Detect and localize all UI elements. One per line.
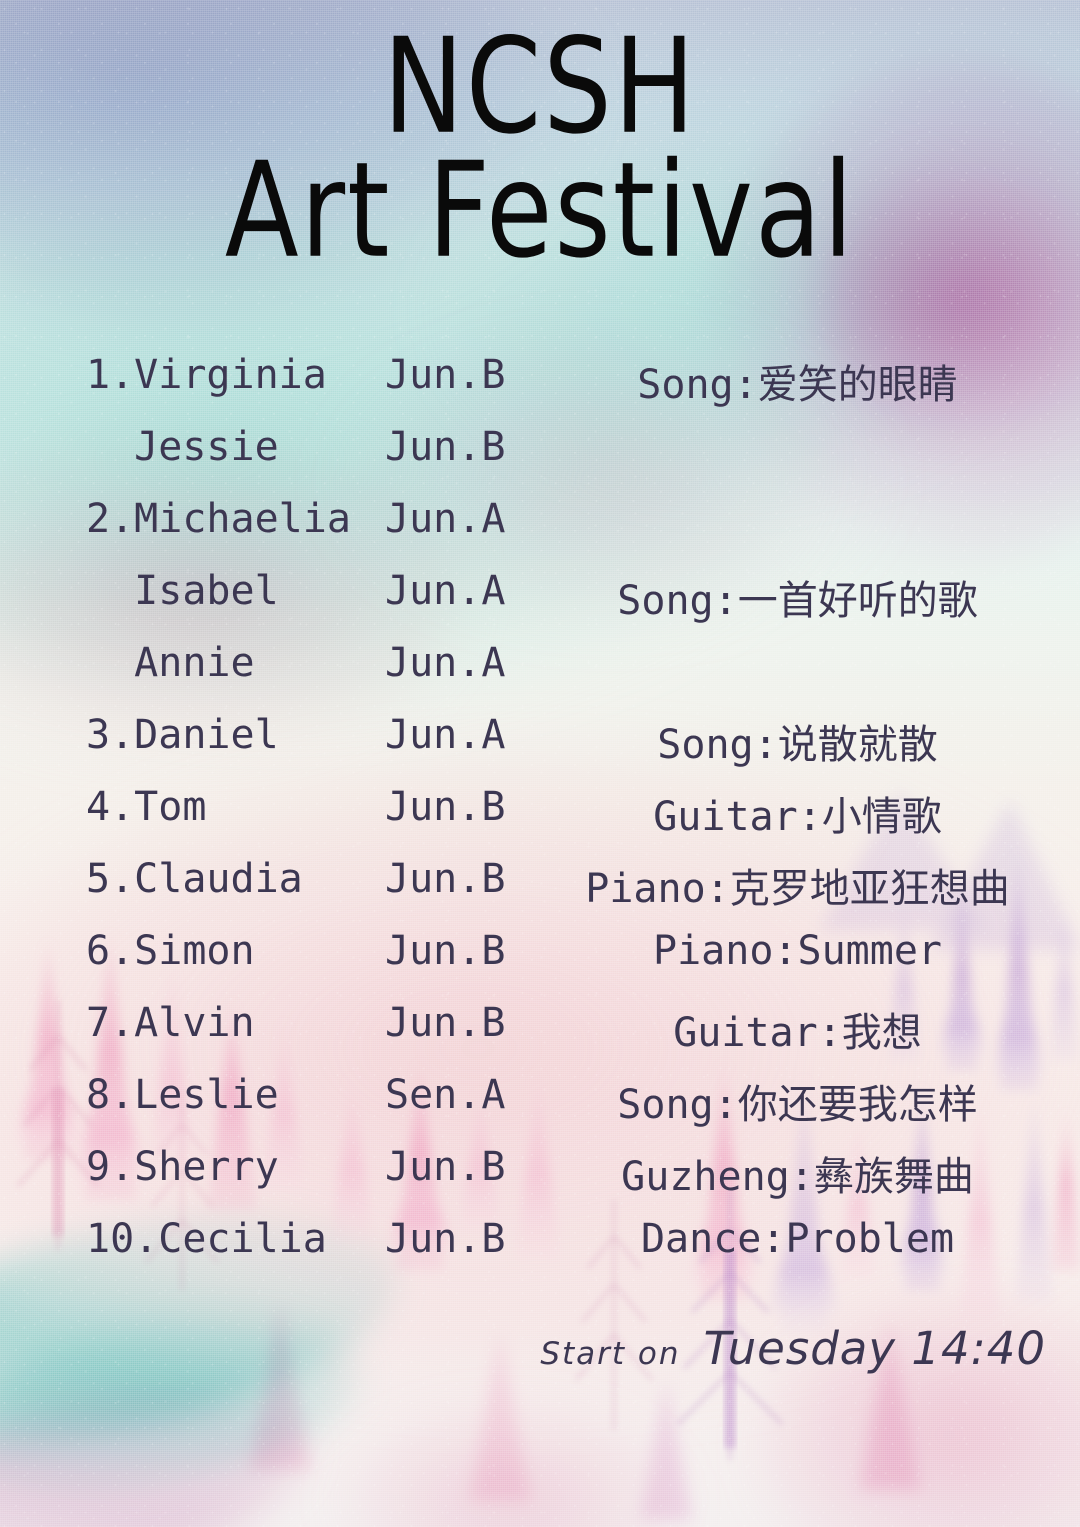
performer-name-cell: 2.Michaelia: [86, 496, 376, 542]
performer-name-cell: 7.Alvin: [86, 1000, 376, 1046]
performer-name-cell: 6.Simon: [86, 928, 376, 974]
performance-piece-title: 彝族舞曲: [814, 1154, 974, 1200]
performer-name-cell: 1.Virginia: [86, 352, 376, 398]
performer-name-cell: 8.Leslie: [86, 1072, 376, 1118]
performance-piece-title: Summer: [798, 928, 943, 974]
performance-piece-title: 说散就散: [778, 722, 938, 768]
program-row: 5.ClaudiaJun.BPiano:克罗地亚狂想曲: [0, 856, 1080, 928]
performance-kind-label: Song:: [657, 722, 777, 768]
performance-kind-label: Guitar:: [673, 1010, 842, 1056]
performer-name-cell: 5.Claudia: [86, 856, 376, 902]
performance-kind-label: Song:: [637, 362, 757, 408]
class-cell: Jun.A: [385, 712, 535, 758]
performance-piece-title: Problem: [785, 1216, 954, 1262]
performer-name-cell: 10.Cecilia: [86, 1216, 376, 1262]
program-row: 10.CeciliaJun.BDance:Problem: [0, 1216, 1080, 1288]
performance-kind-label: Song:: [617, 578, 737, 624]
title-line-secondary: Art Festival: [0, 146, 1080, 278]
program-row: 9.SherryJun.BGuzheng:彝族舞曲: [0, 1144, 1080, 1216]
program-row: 3.DanielJun.ASong:说散就散: [0, 712, 1080, 784]
footer-start-time: Tuesday 14:40: [704, 1322, 1046, 1375]
program-row: AnnieJun.A: [0, 640, 1080, 712]
performance-item-cell: Guitar:我想: [545, 1000, 1050, 1058]
program-row: 8.LeslieSen.ASong:你还要我怎样: [0, 1072, 1080, 1144]
performance-kind-label: Piano:: [585, 866, 730, 912]
performer-name-cell: Jessie: [86, 424, 376, 470]
performance-kind-label: Guzheng:: [621, 1154, 814, 1200]
poster-title: NCSH Art Festival: [0, 22, 1080, 254]
performance-kind-label: Piano:: [653, 928, 798, 974]
performance-piece-title: 克罗地亚狂想曲: [730, 866, 1010, 912]
performance-piece-title: 一首好听的歌: [738, 578, 978, 624]
performer-name-cell: 9.Sherry: [86, 1144, 376, 1190]
performance-piece-title: 爱笑的眼睛: [758, 362, 958, 408]
program-row: JessieJun.B: [0, 424, 1080, 496]
program-list: 1.VirginiaJun.BSong:爱笑的眼睛 JessieJun.B2.M…: [0, 352, 1080, 1288]
performance-piece-title: 小情歌: [822, 794, 942, 840]
program-row: 2.MichaeliaJun.A: [0, 496, 1080, 568]
class-cell: Jun.B: [385, 1216, 535, 1262]
class-cell: Jun.B: [385, 424, 535, 470]
class-cell: Sen.A: [385, 1072, 535, 1118]
performer-name-cell: 4.Tom: [86, 784, 376, 830]
start-time-footer: Start on Tuesday 14:40: [540, 1322, 1046, 1375]
title-line-primary: NCSH: [0, 22, 1080, 154]
class-cell: Jun.A: [385, 640, 535, 686]
performance-piece-title: 我想: [842, 1010, 922, 1056]
class-cell: Jun.A: [385, 568, 535, 614]
performance-kind-label: Song:: [617, 1082, 737, 1128]
performance-item-cell: Guzheng:彝族舞曲: [545, 1144, 1050, 1202]
program-row: 1.VirginiaJun.BSong:爱笑的眼睛: [0, 352, 1080, 424]
program-row: 7.AlvinJun.BGuitar:我想: [0, 1000, 1080, 1072]
performance-kind-label: Dance:: [641, 1216, 786, 1262]
performance-item-cell: Piano:Summer: [545, 928, 1050, 974]
performance-item-cell: Piano:克罗地亚狂想曲: [545, 856, 1050, 914]
class-cell: Jun.A: [385, 496, 535, 542]
program-row: 4.TomJun.BGuitar:小情歌: [0, 784, 1080, 856]
poster-content: NCSH Art Festival 1.VirginiaJun.BSong:爱笑…: [0, 0, 1080, 1527]
performance-item-cell: Song:一首好听的歌: [545, 568, 1050, 626]
class-cell: Jun.B: [385, 1144, 535, 1190]
footer-prefix-label: Start on: [540, 1336, 680, 1372]
program-row: IsabelJun.ASong:一首好听的歌: [0, 568, 1080, 640]
performance-item-cell: Song:你还要我怎样: [545, 1072, 1050, 1130]
art-festival-poster: NCSH Art Festival 1.VirginiaJun.BSong:爱笑…: [0, 0, 1080, 1527]
performer-name-cell: Annie: [86, 640, 376, 686]
program-row: 6.SimonJun.BPiano:Summer: [0, 928, 1080, 1000]
performance-item-cell: Guitar:小情歌: [545, 784, 1050, 842]
class-cell: Jun.B: [385, 352, 535, 398]
performance-item-cell: Song:说散就散: [545, 712, 1050, 770]
performance-item-cell: Dance:Problem: [545, 1216, 1050, 1262]
class-cell: Jun.B: [385, 784, 535, 830]
performer-name-cell: 3.Daniel: [86, 712, 376, 758]
class-cell: Jun.B: [385, 1000, 535, 1046]
performer-name-cell: Isabel: [86, 568, 376, 614]
class-cell: Jun.B: [385, 928, 535, 974]
class-cell: Jun.B: [385, 856, 535, 902]
performance-kind-label: Guitar:: [653, 794, 822, 840]
performance-item-cell: Song:爱笑的眼睛: [545, 352, 1050, 410]
performance-piece-title: 你还要我怎样: [738, 1082, 978, 1128]
